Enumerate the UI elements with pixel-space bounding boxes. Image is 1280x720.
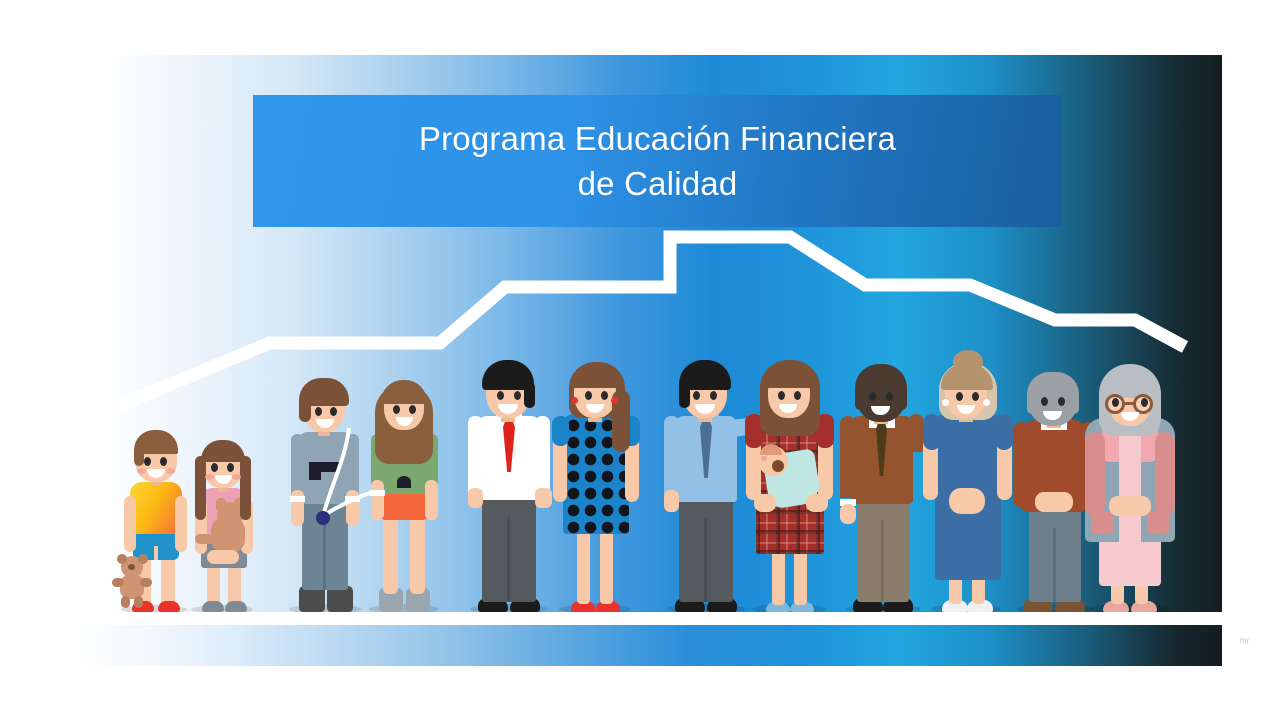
slide-canvas: Programa Educación Financiera de Calidad… [0, 0, 1280, 720]
eye [144, 457, 151, 466]
leg [772, 549, 785, 605]
hair-side [855, 384, 866, 410]
leg [410, 516, 425, 594]
eye [972, 392, 979, 401]
leg [794, 549, 807, 605]
eye [1058, 397, 1065, 406]
eye [778, 391, 785, 400]
trouser-gap [1053, 528, 1056, 602]
figure-shadow [1089, 604, 1171, 612]
arm [1085, 432, 1105, 516]
person-father [657, 324, 753, 612]
figure-shadow [559, 604, 631, 612]
person-young-woman [547, 324, 643, 612]
eye [160, 457, 167, 466]
cheek [166, 468, 175, 474]
leg [228, 562, 241, 604]
eye [409, 405, 416, 414]
clasped-hands [949, 488, 985, 514]
hand [468, 488, 483, 508]
eye [330, 407, 337, 416]
earring [942, 399, 949, 406]
teddy-bear-icon [113, 556, 151, 606]
earring [983, 399, 990, 406]
hair-side [1027, 390, 1038, 414]
eye [1141, 398, 1148, 407]
cheek [232, 474, 241, 480]
eye [601, 391, 608, 400]
hair [201, 440, 245, 462]
eye [393, 405, 400, 414]
hands [207, 550, 239, 564]
page-title: Programa Educación Financiera de Calidad [419, 116, 896, 206]
footer-bar [65, 625, 1222, 666]
trouser-gap [704, 518, 707, 602]
cheek [137, 468, 146, 474]
hair-top [381, 380, 427, 404]
hand [754, 494, 776, 512]
round-glasses-icon [1103, 394, 1157, 414]
cheek [205, 474, 214, 480]
hand [664, 490, 679, 512]
trouser-gap [507, 516, 510, 602]
baby-hair [760, 444, 782, 455]
earring [611, 397, 618, 404]
eye [497, 391, 504, 400]
shirt-graphic [397, 476, 411, 488]
sleeve [923, 414, 941, 450]
baby-pacifier [772, 460, 784, 472]
hair-side [896, 384, 907, 410]
forearm [425, 480, 438, 520]
eye [315, 407, 322, 416]
eye [869, 392, 876, 401]
hair-braid [195, 456, 206, 520]
earring [571, 397, 578, 404]
hair [134, 446, 144, 466]
title-box: Programa Educación Financiera de Calidad [253, 95, 1062, 227]
leg [383, 516, 398, 594]
eye [693, 391, 700, 400]
leg [577, 528, 590, 604]
leg [600, 528, 613, 604]
eye [710, 391, 717, 400]
arm [124, 496, 136, 552]
arm [291, 434, 304, 494]
hair [299, 396, 311, 422]
trouser-gap [881, 520, 884, 602]
forearm [371, 480, 384, 520]
arm [840, 416, 856, 498]
jeans-gap [323, 516, 326, 590]
person-young-man [460, 322, 556, 612]
person-girl-child [185, 422, 261, 612]
shorts-gap [154, 546, 158, 560]
arm [1013, 422, 1031, 508]
hair-braid [240, 456, 251, 520]
eye [886, 392, 893, 401]
eye [794, 391, 801, 400]
hands [1035, 492, 1073, 512]
person-adult-man [835, 332, 929, 612]
person-elderly-woman [1075, 344, 1185, 612]
hand [806, 494, 828, 512]
eye [227, 463, 234, 472]
sleeve [552, 416, 569, 446]
hair-bun-icon [953, 350, 983, 374]
hands [1109, 496, 1151, 516]
eye [1112, 398, 1119, 407]
arm [468, 416, 483, 494]
eye [585, 391, 592, 400]
person-mother [740, 326, 838, 612]
person-boy-child [115, 417, 195, 612]
hair-side [524, 382, 535, 408]
arm [664, 416, 679, 494]
leg [207, 562, 220, 604]
eye [1041, 397, 1048, 406]
wristband [370, 490, 385, 496]
person-teen-boy [285, 344, 365, 612]
watermark-label: mr [1240, 636, 1250, 645]
hair-side [679, 382, 690, 408]
shoe [158, 601, 180, 612]
shoe [202, 601, 224, 612]
wristband [290, 496, 305, 502]
person-adult-woman [917, 330, 1013, 612]
arm [1155, 432, 1175, 516]
person-teen-girl [365, 350, 443, 612]
shoe [225, 601, 247, 612]
eye [514, 391, 521, 400]
eye [211, 463, 218, 472]
eye [956, 392, 963, 401]
hand [840, 504, 856, 524]
